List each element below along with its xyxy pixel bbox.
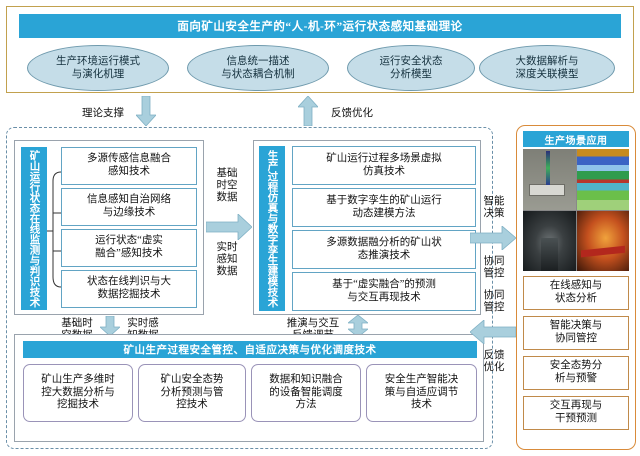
theory-ellipse-4: 大数据解析与 深度关联模型 (479, 45, 615, 91)
left-tech-box-1: 多源传感信息融合 感知技术 (61, 147, 197, 185)
thumbnail-lit-tunnel-conveyor-view (577, 211, 630, 272)
middle-column-frame: 生产过程仿真与数字孪生建模技术 矿山运行过程多场景虚拟 仿真技术 基于数字孪生的… (253, 140, 481, 315)
diagram-root: 面向矿山安全生产的“人-机-环”运行状态感知基础理论 生产环境运行模式 与演化机… (0, 0, 640, 456)
middle-tech-box-3: 多源数据融分析的矿山状 态推演技术 (292, 230, 476, 269)
middle-tech-box-2: 基于数字孪生的矿山运行 动态建模方法 (292, 188, 476, 227)
application-item-1: 在线感知与 状态分析 (523, 276, 629, 310)
bottom-box-2: 矿山安全态势 分析预测与管 控技术 (138, 364, 246, 422)
theory-ellipse-2: 信息统一描述 与状态耦合机制 (187, 45, 329, 91)
left-tech-box-3: 运行状态“虚实 融合”感知技术 (61, 229, 197, 267)
label-feedback-optimize-top: 反馈优化 (322, 108, 382, 120)
thumbnail-dark-tunnel-view (523, 211, 576, 272)
bottom-box-1: 矿山生产多维时 控大数据分析与 挖掘技术 (23, 364, 133, 422)
application-scenario-panel: 生产场景应用 在线感知与 状态分析 智能决策与 协同管控 安全态势分 析与预警 … (516, 125, 636, 450)
theory-ellipse-3: 运行安全状态 分析模型 (347, 45, 475, 91)
arrow-right-data-to-simulation (206, 214, 252, 240)
thumbnail-geological-strata-model (577, 149, 630, 210)
label-realtime-sensing-data: 实时 感知 数据 (208, 242, 246, 278)
arrow-down-theory-support (136, 96, 156, 126)
left-column-vertical-label: 矿山运行状态在线监测与判识技术 (21, 147, 47, 310)
bottom-box-3: 数据和知识融合 的设备智能调度 方法 (251, 364, 361, 422)
arrow-left-feedback-to-control (470, 320, 516, 344)
arrow-right-to-application (470, 226, 516, 250)
label-collaborative-control-2: 协同 管控 (476, 290, 512, 314)
arrow-down-to-control-layer (100, 316, 120, 336)
left-tech-box-2: 信息感知自治网络 与边缘技术 (61, 188, 197, 226)
left-brace-connector (47, 147, 63, 310)
label-collaborative-control: 协同 管控 (476, 256, 512, 280)
label-intelligent-decision: 智能 决策 (476, 196, 512, 220)
application-item-3: 安全态势分 析与预警 (523, 356, 629, 390)
application-item-2: 智能决策与 协同管控 (523, 316, 629, 350)
bottom-panel-title: 矿山生产过程安全管控、自适应决策与优化调度技术 (23, 341, 477, 358)
theory-ellipse-1: 生产环境运行模式 与演化机理 (27, 45, 169, 91)
top-theory-panel: 面向矿山安全生产的“人-机-环”运行状态感知基础理论 生产环境运行模式 与演化机… (6, 6, 634, 93)
label-theory-support: 理论支撑 (74, 108, 132, 120)
middle-tech-box-4: 基于“虚实融合”的预测 与交互再现技术 (292, 272, 476, 311)
top-panel-title: 面向矿山安全生产的“人-机-环”运行状态感知基础理论 (19, 14, 621, 38)
bottom-box-4: 安全生产智能决 策与自适应调节 技术 (366, 364, 477, 422)
arrow-up-feedback-optimize (298, 96, 318, 126)
middle-column-vertical-label: 生产过程仿真与数字孪生建模技术 (259, 146, 285, 311)
scenario-thumbnail-grid (523, 149, 629, 271)
application-item-list: 在线感知与 状态分析 智能决策与 协同管控 安全态势分 析与预警 交互再现与 干… (523, 276, 629, 430)
application-item-4: 交互再现与 干预预测 (523, 396, 629, 430)
application-panel-title: 生产场景应用 (523, 131, 629, 147)
thumbnail-mining-machine-render (523, 149, 576, 210)
left-column-frame: 矿山运行状态在线监测与判识技术 多源传感信息融合 感知技术 信息感知自治网络 与… (14, 140, 204, 315)
label-feedback-optimize-right: 反馈 优化 (476, 350, 512, 374)
bottom-control-panel: 矿山生产过程安全管控、自适应决策与优化调度技术 矿山生产多维时 控大数据分析与 … (14, 334, 484, 442)
left-tech-box-4: 状态在线判识与大 数据挖掘技术 (61, 270, 197, 308)
middle-tech-box-1: 矿山运行过程多场景虚拟 仿真技术 (292, 146, 476, 185)
label-basic-spatiotemporal-data: 基础 时空 数据 (208, 168, 246, 204)
